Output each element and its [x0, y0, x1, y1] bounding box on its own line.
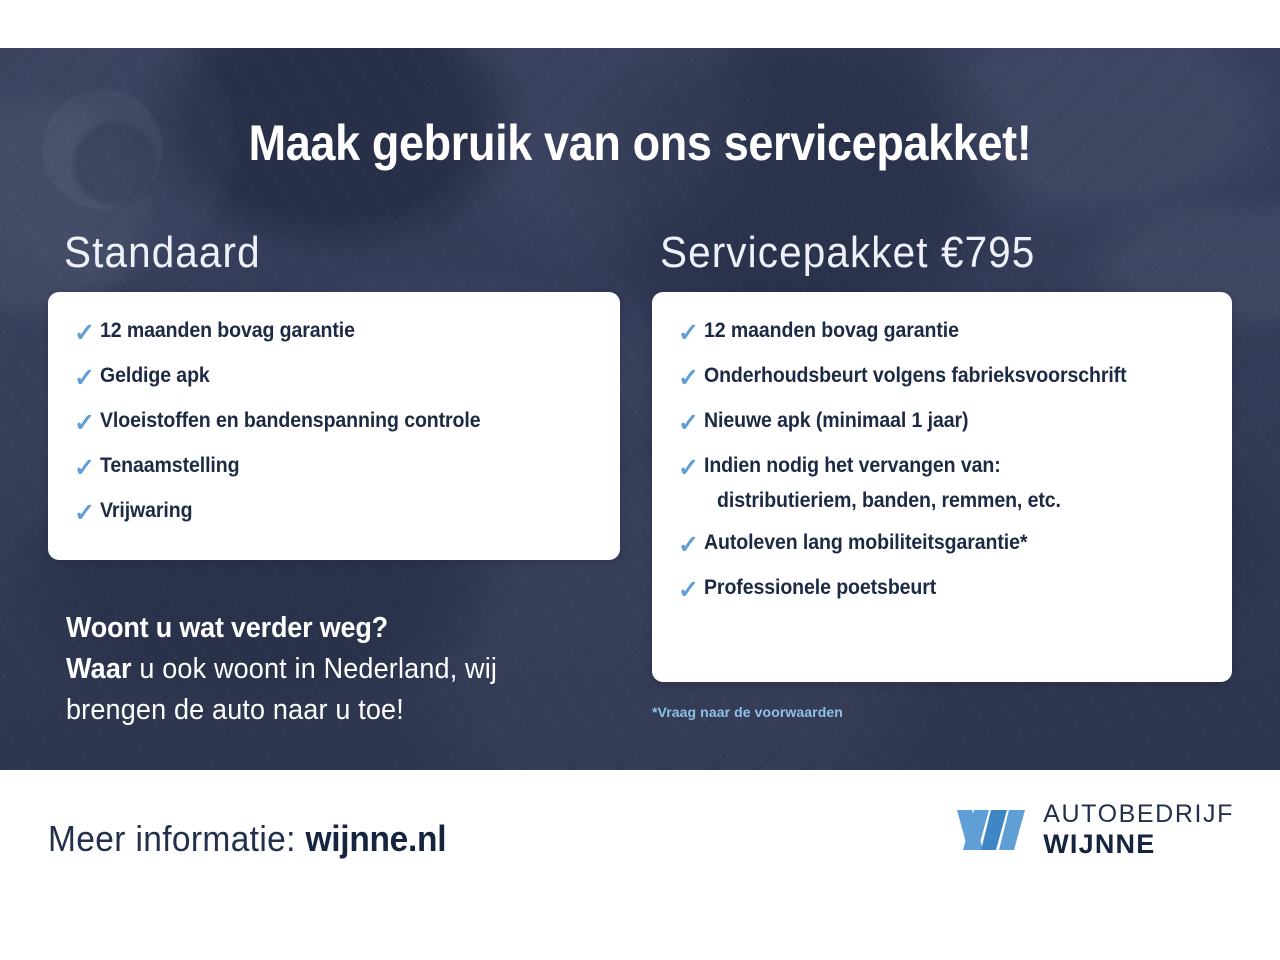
more-info-label: Meer informatie:	[48, 818, 306, 859]
list-item-label: Professionele poetsbeurt	[704, 577, 936, 600]
poster-root: Maak gebruik van ons servicepakket! Stan…	[0, 0, 1280, 960]
promo-answer-emphasis: Waar	[66, 653, 132, 685]
check-icon: ✓	[678, 456, 704, 481]
servicepakket-feature-list: ✓ 12 maanden bovag garantie ✓ Onderhouds…	[652, 292, 1232, 623]
list-item-secondary-label: distributieriem, banden, remmen, etc.	[704, 489, 1171, 513]
brand-name-line-2: WIJNNE	[1043, 831, 1234, 858]
promo-answer-line-2: brengen de auto naar u toe!	[66, 690, 587, 731]
column-heading-standaard: Standaard	[64, 228, 261, 278]
wijnne-w-mark-icon	[955, 806, 1027, 854]
more-info-text: Meer informatie: wijnne.nl	[48, 818, 446, 860]
brand-name-line-1: AUTOBEDRIJF	[1043, 802, 1234, 827]
list-item: ✓ Geldige apk	[74, 365, 594, 391]
list-item-label: Tenaamstelling	[100, 455, 239, 478]
footer-bar: Meer informatie: wijnne.nl AUTOBEDRIJF W…	[0, 770, 1280, 960]
servicepakket-feature-card: ✓ 12 maanden bovag garantie ✓ Onderhouds…	[652, 292, 1232, 682]
standaard-feature-list: ✓ 12 maanden bovag garantie ✓ Geldige ap…	[48, 292, 620, 546]
check-icon: ✓	[74, 501, 100, 526]
promo-answer-line-1: Waar u ook woont in Nederland, wij	[66, 649, 587, 690]
column-heading-servicepakket: Servicepakket €795	[660, 228, 1035, 278]
check-icon: ✓	[74, 366, 100, 391]
list-item: ✓ Vloeistoffen en bandenspanning control…	[74, 410, 594, 436]
list-item-label: Indien nodig het vervangen van:	[704, 455, 1001, 478]
website-link[interactable]: wijnne.nl	[306, 818, 447, 859]
check-icon: ✓	[678, 366, 704, 391]
standaard-feature-card: ✓ 12 maanden bovag garantie ✓ Geldige ap…	[48, 292, 620, 560]
promo-answer-rest: u ook woont in Nederland, wij	[132, 653, 497, 685]
hero-section: Maak gebruik van ons servicepakket! Stan…	[0, 48, 1280, 770]
page-title: Maak gebruik van ons servicepakket!	[64, 114, 1216, 172]
check-icon: ✓	[74, 456, 100, 481]
list-item: ✓ Nieuwe apk (minimaal 1 jaar)	[678, 410, 1206, 436]
list-item: ✓ Indien nodig het vervangen van:	[678, 455, 1206, 481]
list-item: ✓ Autoleven lang mobiliteitsgarantie*	[678, 532, 1206, 558]
list-item-label: Vloeistoffen en bandenspanning controle	[100, 410, 481, 433]
check-icon: ✓	[678, 321, 704, 346]
check-icon: ✓	[678, 578, 704, 603]
brand-lockup: AUTOBEDRIJF WIJNNE	[955, 802, 1234, 858]
list-item-label: Onderhoudsbeurt volgens fabrieksvoorschr…	[704, 365, 1126, 388]
list-item-label: 12 maanden bovag garantie	[100, 320, 355, 343]
terms-footnote: *Vraag naar de voorwaarden	[652, 704, 843, 720]
promo-question: Woont u wat verder weg?	[66, 608, 587, 649]
delivery-promo-block: Woont u wat verder weg? Waar u ook woont…	[66, 608, 626, 732]
list-item-label: Autoleven lang mobiliteitsgarantie*	[704, 532, 1027, 555]
brand-wordmark: AUTOBEDRIJF WIJNNE	[1043, 802, 1234, 858]
list-item: ✓ 12 maanden bovag garantie	[678, 320, 1206, 346]
check-icon: ✓	[678, 411, 704, 436]
hero-content: Maak gebruik van ons servicepakket! Stan…	[0, 48, 1280, 770]
list-item-label: Nieuwe apk (minimaal 1 jaar)	[704, 410, 968, 433]
list-item: ✓ Onderhoudsbeurt volgens fabrieksvoorsc…	[678, 365, 1206, 391]
check-icon: ✓	[74, 411, 100, 436]
list-item: ✓ Vrijwaring	[74, 500, 594, 526]
list-item-label: 12 maanden bovag garantie	[704, 320, 959, 343]
list-item-label: Vrijwaring	[100, 500, 192, 523]
list-item: ✓ Tenaamstelling	[74, 455, 594, 481]
list-item-label: Geldige apk	[100, 365, 210, 388]
check-icon: ✓	[678, 533, 704, 558]
list-item: ✓ Professionele poetsbeurt	[678, 577, 1206, 603]
check-icon: ✓	[74, 321, 100, 346]
top-white-band	[0, 0, 1280, 48]
list-item: ✓ 12 maanden bovag garantie	[74, 320, 594, 346]
